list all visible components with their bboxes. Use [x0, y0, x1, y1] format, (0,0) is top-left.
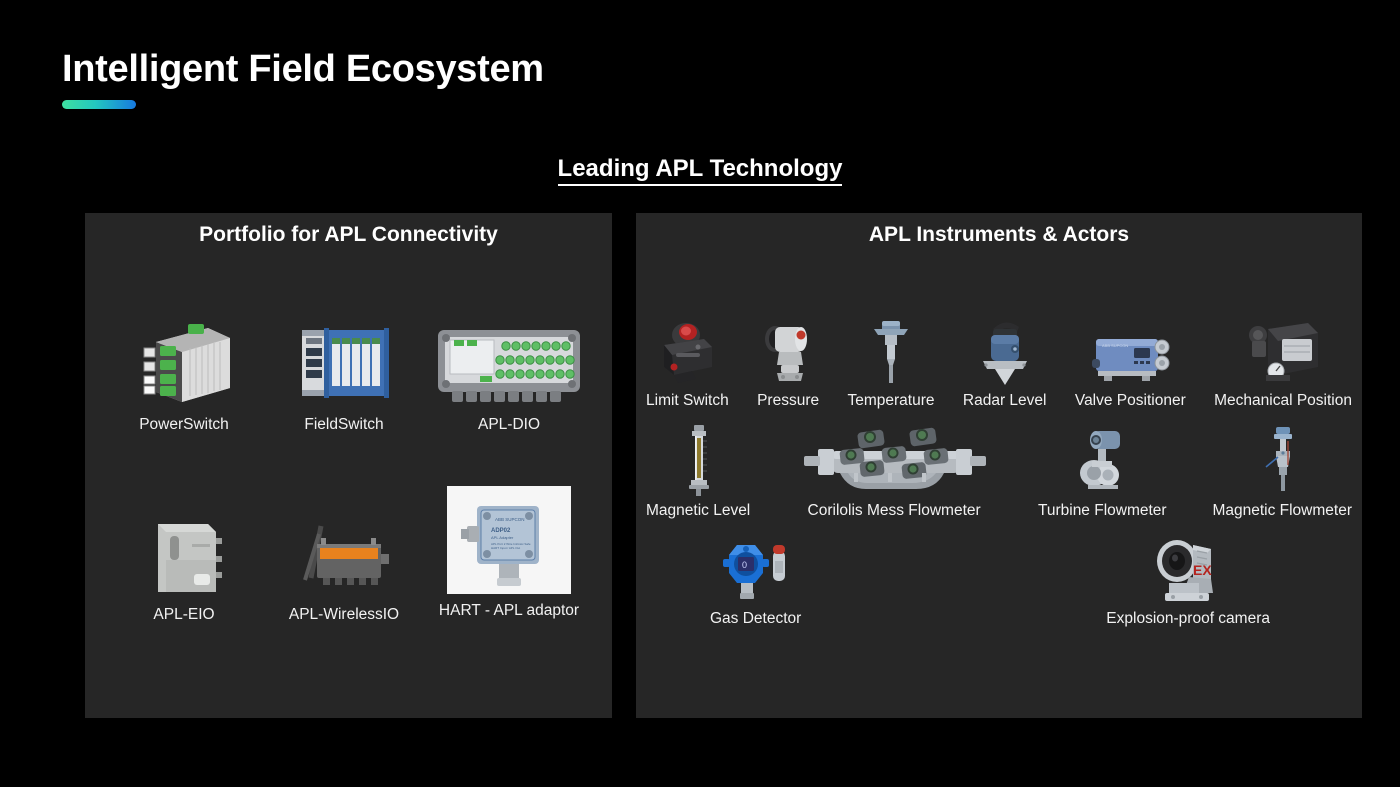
pressure-transmitter-icon	[757, 315, 819, 387]
instrument-label: Valve Positioner	[1075, 392, 1186, 410]
portfolio-item-powerswitch[interactable]: PowerSwitch	[99, 318, 269, 434]
portfolio-item-apl-eio[interactable]: APL-EIO	[99, 508, 269, 624]
portfolio-label: APL-EIO	[153, 606, 214, 624]
portfolio-row-1: PowerSwitch	[85, 318, 612, 434]
magnetic-level-gauge-icon	[681, 425, 715, 497]
instrument-label: Gas Detector	[710, 610, 801, 628]
instrument-label: Turbine Flowmeter	[1038, 502, 1167, 520]
page-title: Intelligent Field Ecosystem	[62, 48, 544, 91]
instrument-item-radar-level[interactable]: Radar Level	[963, 315, 1047, 410]
panel-title-instruments: APL Instruments & Actors	[636, 223, 1362, 247]
apl-dio-junction-box-icon	[434, 318, 584, 408]
valve-positioner-icon: ABB SUPCON	[1086, 315, 1174, 387]
portfolio-item-fieldswitch[interactable]: FieldSwitch	[269, 318, 419, 434]
limit-switch-icon	[652, 315, 722, 387]
svg-text:HART Input / APL Out: HART Input / APL Out	[491, 546, 520, 550]
portfolio-item-apl-wirelessio[interactable]: APL-WirelessIO	[269, 508, 419, 624]
portfolio-label: PowerSwitch	[139, 416, 229, 434]
hart-apl-adaptor-photo-icon: ABB SUPCON ADP02 APL Adapter APL Port 2 …	[447, 486, 571, 594]
instrument-label: Corilolis Mess Flowmeter	[808, 502, 981, 520]
instrument-item-gas-detector[interactable]: 0 Gas Detector	[710, 533, 801, 628]
turbine-flowmeter-icon	[1072, 425, 1132, 497]
svg-text:0: 0	[742, 560, 747, 570]
svg-text:ADP02: ADP02	[491, 528, 511, 534]
panel-portfolio-for-apl-connectivity: Portfolio for APL Connectivity	[85, 213, 612, 718]
instrument-label: Limit Switch	[646, 392, 729, 410]
instrument-item-explosion-proof-camera[interactable]: EX Explosion-proof camera	[1106, 533, 1270, 628]
instruments-row-1: Limit Switch	[646, 315, 1352, 410]
din-rail-power-switch-icon	[132, 318, 236, 408]
portfolio-label: HART - APL adaptor	[439, 602, 579, 620]
portfolio-item-apl-dio[interactable]: APL-DIO	[419, 318, 599, 434]
instrument-item-valve-positioner[interactable]: ABB SUPCON Valve Positioner	[1075, 315, 1186, 410]
instrument-label: Mechanical Position	[1214, 392, 1352, 410]
apl-eio-enclosure-icon	[132, 508, 236, 598]
instruments-row-3: 0 Gas Detector	[710, 533, 1270, 628]
instruments-row-2: Magnetic Level	[646, 425, 1352, 520]
svg-text:ABB SUPCON: ABB SUPCON	[1102, 343, 1128, 348]
apl-wireless-io-icon	[289, 508, 399, 598]
panel-apl-instruments-and-actors: APL Instruments & Actors	[636, 213, 1362, 718]
rack-field-switch-icon	[292, 318, 396, 408]
instrument-label: Explosion-proof camera	[1106, 610, 1270, 628]
coriolis-mass-flowmeter-icon	[796, 425, 992, 497]
instrument-item-turbine-flowmeter[interactable]: Turbine Flowmeter	[1038, 425, 1167, 520]
panel-title-portfolio: Portfolio for APL Connectivity	[85, 223, 612, 247]
section-heading: Leading APL Technology	[0, 155, 1400, 183]
title-accent-bar	[62, 100, 136, 109]
instrument-item-limit-switch[interactable]: Limit Switch	[646, 315, 729, 410]
instrument-label: Magnetic Flowmeter	[1212, 502, 1352, 520]
instrument-item-magnetic-flowmeter[interactable]: Magnetic Flowmeter	[1212, 425, 1352, 520]
instrument-item-temperature[interactable]: Temperature	[848, 315, 935, 410]
portfolio-label: APL-DIO	[478, 416, 540, 434]
gas-detector-icon: 0	[711, 533, 801, 605]
radar-level-icon	[973, 315, 1037, 387]
magnetic-flowmeter-icon	[1258, 425, 1306, 497]
svg-text:ABB SUPCON: ABB SUPCON	[495, 517, 525, 522]
instrument-label: Radar Level	[963, 392, 1047, 410]
svg-text:APL Adapter: APL Adapter	[491, 535, 514, 540]
portfolio-item-hart-apl-adaptor[interactable]: ABB SUPCON ADP02 APL Adapter APL Port 2 …	[419, 508, 599, 624]
instrument-item-pressure[interactable]: Pressure	[757, 315, 819, 410]
section-heading-text: Leading APL Technology	[558, 155, 843, 186]
instrument-label: Pressure	[757, 392, 819, 410]
portfolio-row-2: APL-EIO	[85, 508, 612, 624]
instrument-label: Temperature	[848, 392, 935, 410]
portfolio-label: FieldSwitch	[304, 416, 383, 434]
instrument-label: Magnetic Level	[646, 502, 750, 520]
svg-text:EX: EX	[1193, 562, 1212, 578]
instrument-item-magnetic-level[interactable]: Magnetic Level	[646, 425, 750, 520]
slide-canvas: Intelligent Field Ecosystem Leading APL …	[0, 0, 1400, 787]
temperature-probe-icon	[868, 315, 914, 387]
instrument-item-coriolis-mess-flowmeter[interactable]: Corilolis Mess Flowmeter	[796, 425, 992, 520]
portfolio-label: APL-WirelessIO	[289, 606, 399, 624]
explosion-proof-camera-icon: EX	[1149, 533, 1227, 605]
mechanical-position-actuator-icon	[1242, 315, 1324, 387]
instrument-item-mechanical-position[interactable]: Mechanical Position	[1214, 315, 1352, 410]
